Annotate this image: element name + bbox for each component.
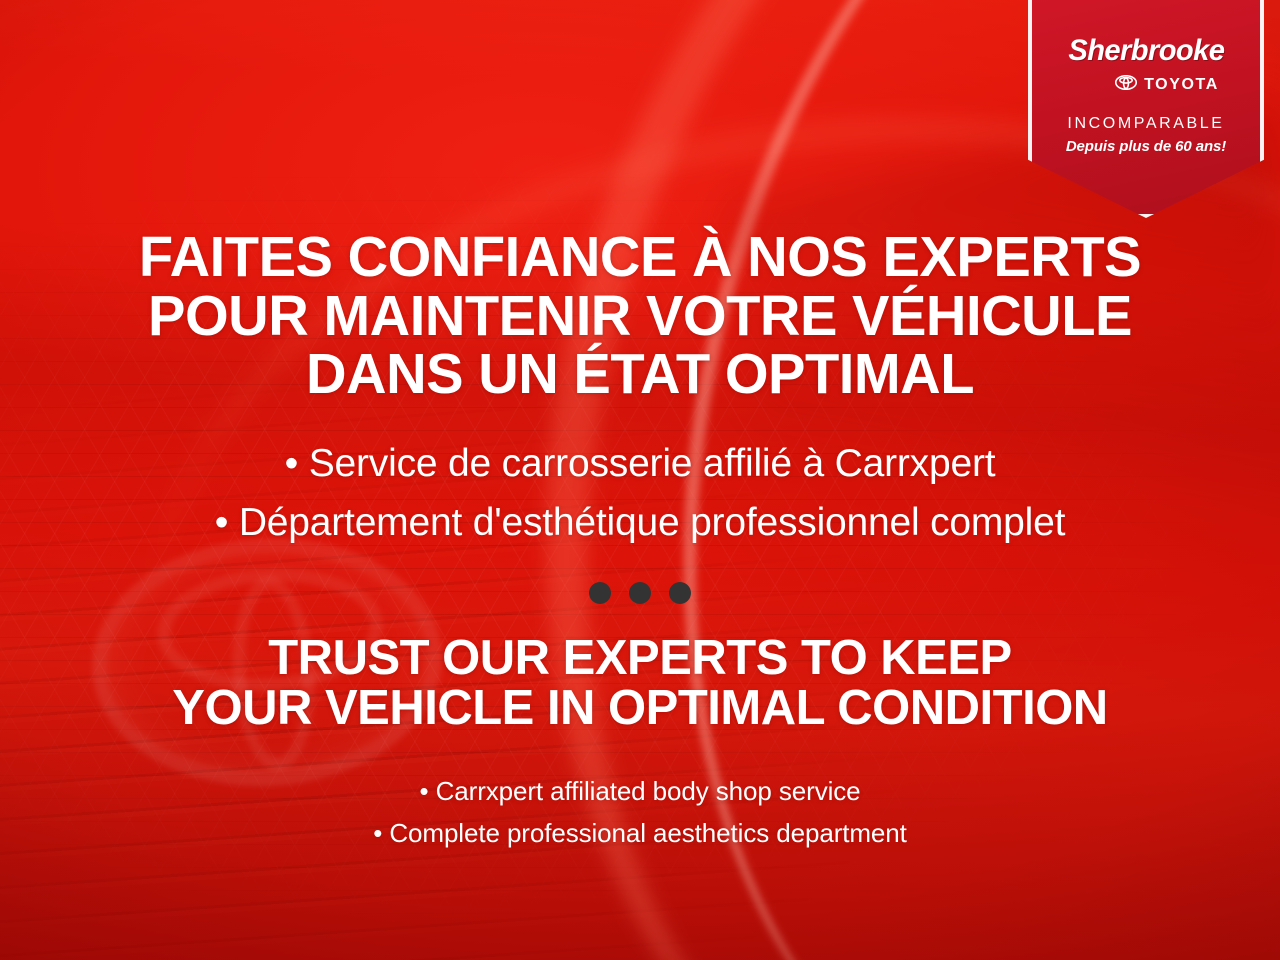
bullets-english: • Carrxpert affiliated body shop service…: [0, 770, 1280, 854]
badge-slogan: INCOMPARABLE: [1067, 116, 1224, 132]
divider-dot-2: [629, 582, 651, 604]
divider-dots: [0, 582, 1280, 604]
headline-french-line-1: FAITES CONFIANCE À NOS EXPERTS: [10, 228, 1271, 287]
headline-english-line-1: TRUST OUR EXPERTS TO KEEP: [0, 633, 1280, 683]
headline-french-line-2: POUR MAINTENIR VOTRE VÉHICULE: [10, 287, 1271, 346]
divider-dot-3: [669, 582, 691, 604]
bullet-english-2: • Complete professional aesthetics depar…: [0, 812, 1280, 854]
toyota-oval-emblem-icon: [1115, 75, 1137, 95]
headline-french: FAITES CONFIANCE À NOS EXPERTS POUR MAIN…: [10, 228, 1271, 404]
bullets-french: • Service de carrosserie affilié à Carrx…: [0, 434, 1280, 553]
badge-brand-row: TOYOTA: [1073, 75, 1219, 95]
badge-dealer-wordmark: Sherbrooke: [1068, 36, 1224, 66]
headline-english-line-2: YOUR VEHICLE IN OPTIMAL CONDITION: [0, 683, 1280, 733]
divider-dot-1: [589, 582, 611, 604]
headline-english: TRUST OUR EXPERTS TO KEEP YOUR VEHICLE I…: [0, 633, 1280, 734]
bullet-french-2: • Département d'esthétique professionnel…: [0, 493, 1280, 552]
headline-french-line-3: DANS UN ÉTAT OPTIMAL: [10, 345, 1271, 404]
dealership-badge[interactable]: Sherbrooke TOYOTA INCOMPARABLE Depuis pl…: [1028, 0, 1264, 218]
promo-banner: Sherbrooke TOYOTA INCOMPARABLE Depuis pl…: [0, 0, 1280, 960]
bullet-french-1: • Service de carrosserie affilié à Carrx…: [0, 434, 1280, 493]
bullet-english-1: • Carrxpert affiliated body shop service: [0, 770, 1280, 812]
badge-tagline: Depuis plus de 60 ans!: [1066, 139, 1226, 154]
badge-brand-label: TOYOTA: [1144, 77, 1219, 93]
